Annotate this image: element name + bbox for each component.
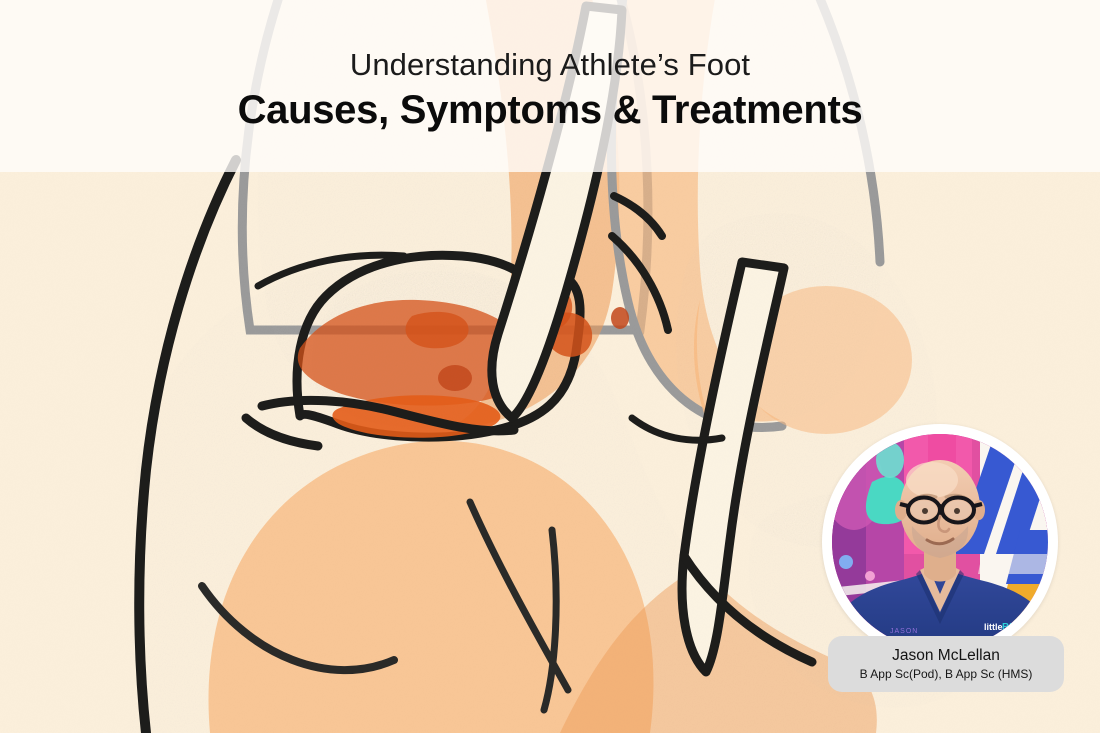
banner-subtitle: Understanding Athlete’s Foot [350,47,750,84]
banner-main-title: Causes, Symptoms & Treatments [238,87,863,133]
doctor-credentials: B App Sc(Pod), B App Sc (HMS) [860,667,1033,682]
svg-text:little: little [984,622,1003,632]
svg-text:JASON: JASON [890,628,918,635]
title-block: Understanding Athlete’s Foot Causes, Sym… [0,0,1100,172]
banner-image: Understanding Athlete’s Foot Causes, Sym… [0,0,1100,733]
doctor-badge: little BIG feet JASON Jason McLellan B A… [822,424,1070,692]
avatar: little BIG feet JASON [832,434,1048,650]
doctor-name-plate: Jason McLellan B App Sc(Pod), B App Sc (… [828,636,1064,692]
doctor-name: Jason McLellan [892,646,1000,665]
